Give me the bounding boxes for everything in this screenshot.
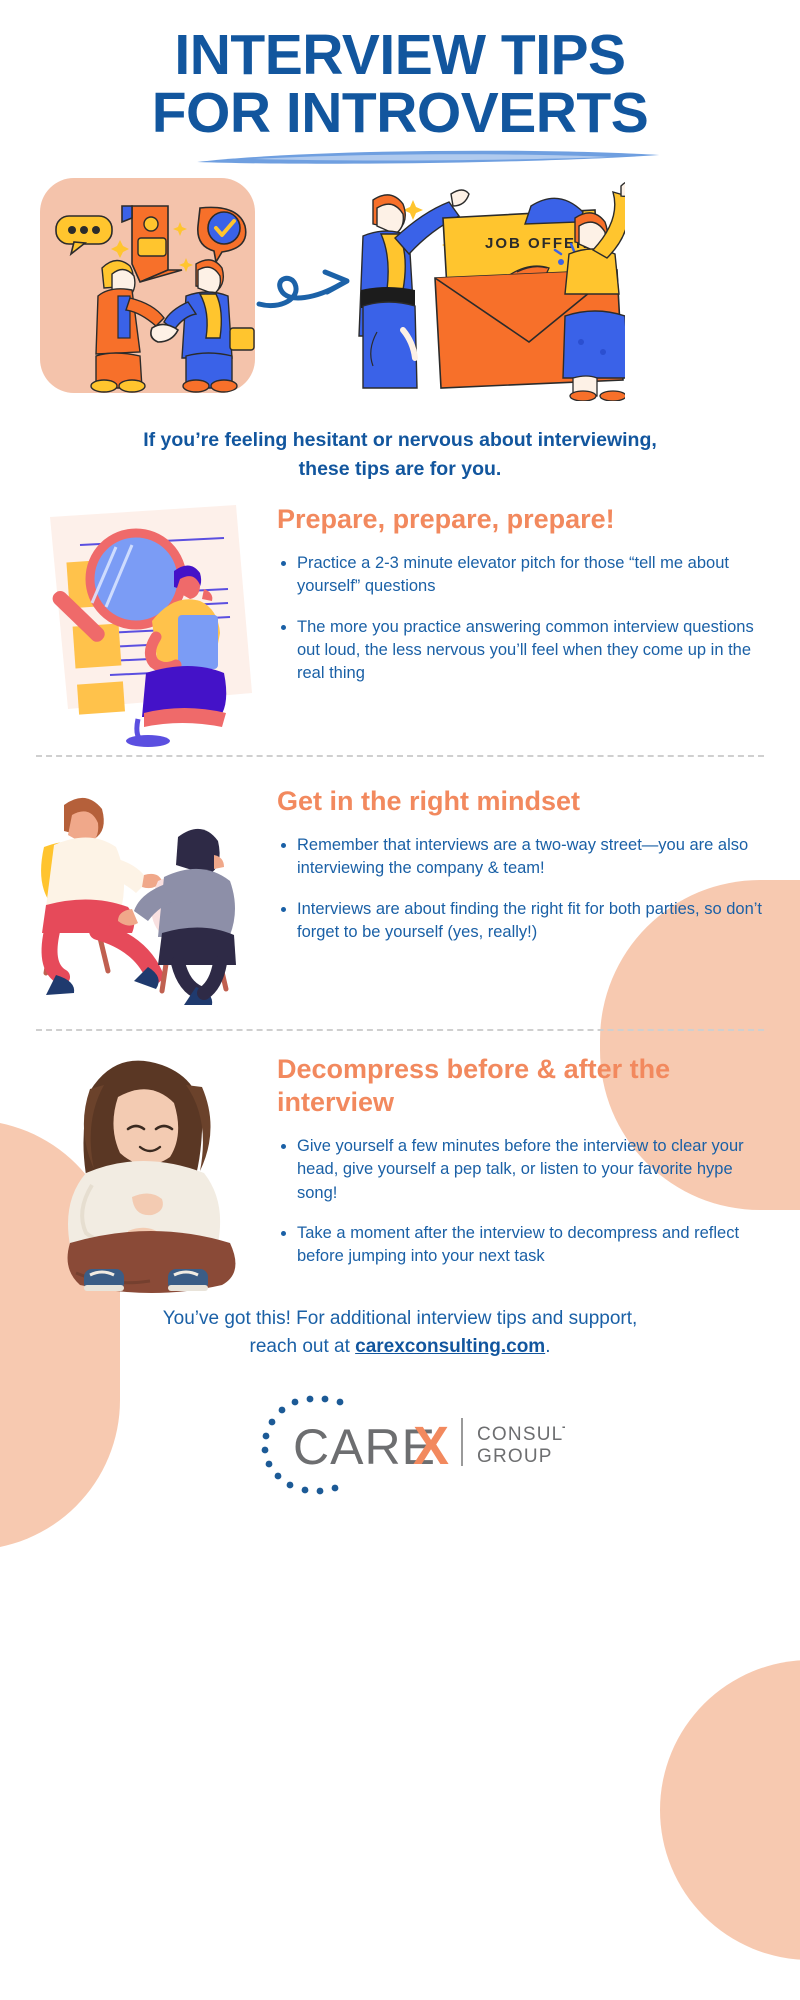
handshake-scene-svg xyxy=(40,178,255,393)
logo-divider xyxy=(461,1418,463,1466)
tip-section-mindset: Get in the right mindset Remember that i… xyxy=(0,771,800,1021)
section-heading: Get in the right mindset xyxy=(277,785,766,818)
page-title: INTERVIEW TIPS FOR INTROVERTS xyxy=(0,26,800,142)
conversation-svg xyxy=(28,771,273,1021)
tip-section-prepare: Prepare, prepare, prepare! Practice a 2-… xyxy=(0,497,800,747)
bullet-item: Remember that interviews are a two-way s… xyxy=(277,834,766,881)
check-badge-icon xyxy=(198,208,246,263)
swoosh-icon xyxy=(193,146,663,168)
hero-illustrations: JOB OFFER xyxy=(0,172,800,412)
handshake-illustration xyxy=(40,178,255,393)
tip-section-decompress: Decompress before & after the interview … xyxy=(0,1045,800,1295)
shoe xyxy=(46,975,74,995)
job-offer-celebration-illustration: JOB OFFER xyxy=(325,166,625,401)
job-offer-scene-svg: JOB OFFER xyxy=(325,166,625,401)
sneaker xyxy=(168,1269,208,1291)
hair xyxy=(176,829,220,875)
person-left xyxy=(91,261,164,393)
carex-website-link[interactable]: carexconsulting.com xyxy=(355,1336,545,1357)
title-line-2: FOR INTROVERTS xyxy=(0,84,800,142)
woman-meditating-illustration xyxy=(28,1045,273,1295)
person-right-seated xyxy=(118,829,236,1005)
sneaker xyxy=(84,1269,124,1291)
person-right xyxy=(164,260,254,392)
header: INTERVIEW TIPS FOR INTROVERTS xyxy=(0,0,800,170)
resume-block xyxy=(77,681,125,714)
bullet-item: Interviews are about finding the right f… xyxy=(277,898,766,945)
meditating-svg xyxy=(28,1045,273,1295)
speech-bubble-icon xyxy=(56,216,112,254)
tip-section-body: Get in the right mindset Remember that i… xyxy=(273,771,772,962)
card-back-shape xyxy=(525,199,583,225)
sparkle-icon xyxy=(173,222,187,236)
section-bullets: Give yourself a few minutes before the i… xyxy=(277,1135,762,1269)
infographic-page: INTERVIEW TIPS FOR INTROVERTS xyxy=(0,0,800,2000)
two-people-conversation-illustration xyxy=(28,771,273,1021)
sparkle-icon xyxy=(111,240,129,258)
tip-section-body: Decompress before & after the interview … xyxy=(273,1045,772,1286)
cta-text: You’ve got this! For additional intervie… xyxy=(140,1305,660,1362)
section-heading: Prepare, prepare, prepare! xyxy=(277,503,758,536)
cta-text-after: . xyxy=(545,1336,550,1357)
logo-tagline-2: GROUP xyxy=(477,1446,553,1467)
handshake-hands-icon xyxy=(151,325,178,343)
bullet-item: Give yourself a few minutes before the i… xyxy=(277,1135,762,1205)
section-bullets: Practice a 2-3 minute elevator pitch for… xyxy=(277,552,758,686)
bullet-item: The more you practice answering common i… xyxy=(277,616,758,686)
logo-wordmark-x: X xyxy=(413,1416,449,1476)
section-divider xyxy=(36,1029,764,1031)
bullet-item: Practice a 2-3 minute elevator pitch for… xyxy=(277,552,758,599)
section-heading: Decompress before & after the interview xyxy=(277,1053,762,1119)
title-line-1: INTERVIEW TIPS xyxy=(0,26,800,84)
intro-text: If you’re feeling hesitant or nervous ab… xyxy=(140,426,660,483)
bullet-item: Take a moment after the interview to dec… xyxy=(277,1222,762,1269)
tip-section-body: Prepare, prepare, prepare! Practice a 2-… xyxy=(273,497,772,703)
section-bullets: Remember that interviews are a two-way s… xyxy=(277,834,766,945)
brand-logo: CARE X CONSULTING GROUP xyxy=(0,1388,800,1498)
resume-magnifier-svg xyxy=(28,497,273,747)
carex-consulting-group-logo: CARE X CONSULTING GROUP xyxy=(235,1388,565,1498)
resume-magnifying-glass-illustration xyxy=(28,497,273,747)
section-divider xyxy=(36,755,764,757)
decorative-peach-blob-right-bottom xyxy=(660,1660,800,1960)
logo-tagline-1: CONSULTING xyxy=(477,1424,565,1445)
